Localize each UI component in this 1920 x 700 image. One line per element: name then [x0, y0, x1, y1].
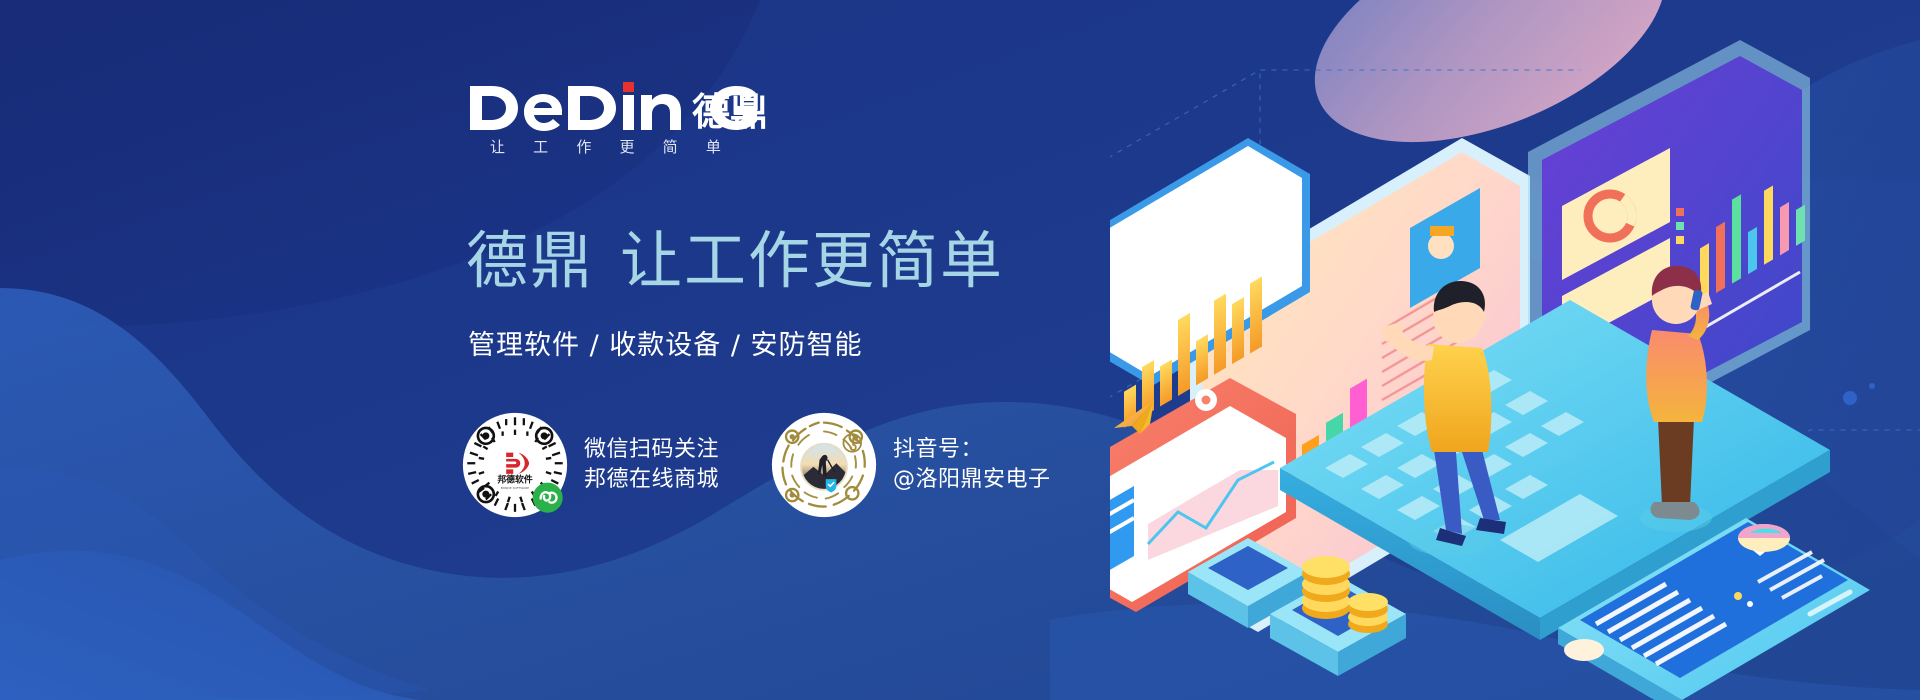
dot-decor	[1869, 383, 1875, 389]
qr-code-section: 邦德软件 BONDE SOFTWARE 微信扫码关注 邦德在线商城	[462, 412, 1051, 518]
gear-icon	[1195, 389, 1217, 411]
logo-wordmark-icon: 德鼎	[468, 78, 788, 134]
page-title: 德鼎让工作更简单	[466, 228, 1004, 293]
douyin-qr-caption: 抖音号： @洛阳鼎安电子	[893, 435, 1051, 496]
qr-inner-logo-sub: BONDE SOFTWARE	[501, 486, 529, 490]
logo-tagline: 让 工 作 更 简 单	[490, 140, 868, 155]
headline-part1: 德鼎	[466, 224, 594, 297]
headline-part2: 让工作更简单	[620, 224, 1004, 297]
brand-logo: 德鼎 让 工 作 更 简 单	[468, 78, 868, 155]
isometric-illustration	[1100, 0, 1920, 700]
wechat-caption-line2: 邦德在线商城	[584, 465, 719, 495]
douyin-caption-line1: 抖音号：	[893, 437, 983, 462]
illustration-svg	[1110, 0, 1920, 700]
douyin-qr[interactable]	[771, 412, 877, 518]
douyin-qr-group[interactable]: 抖音号： @洛阳鼎安电子	[771, 412, 1051, 518]
page-subtitle: 管理软件 / 收款设备 / 安防智能	[468, 323, 863, 362]
logo-cn-text: 德鼎	[692, 90, 768, 134]
wechat-caption-line1: 微信扫码关注	[584, 437, 719, 462]
wechat-miniprogram-qr[interactable]: 邦德软件 BONDE SOFTWARE	[462, 412, 568, 518]
marketing-banner: 德鼎 让 工 作 更 简 单 德鼎让工作更简单 管理软件 / 收款设备 / 安防…	[0, 0, 1920, 700]
logo-accent-dot	[623, 82, 634, 92]
douyin-caption-line2: @洛阳鼎安电子	[893, 465, 1051, 495]
paper-plane-icon	[1110, 392, 1170, 442]
wechat-qr-group[interactable]: 邦德软件 BONDE SOFTWARE 微信扫码关注 邦德在线商城	[462, 412, 719, 518]
wechat-qr-caption: 微信扫码关注 邦德在线商城	[584, 435, 719, 496]
wechat-miniprogram-badge	[533, 483, 563, 513]
dot-decor	[1843, 391, 1857, 405]
qr-inner-logo-text: 邦德软件	[497, 474, 532, 486]
banner-content: 德鼎 让 工 作 更 简 单 德鼎让工作更简单 管理软件 / 收款设备 / 安防…	[0, 0, 1100, 700]
